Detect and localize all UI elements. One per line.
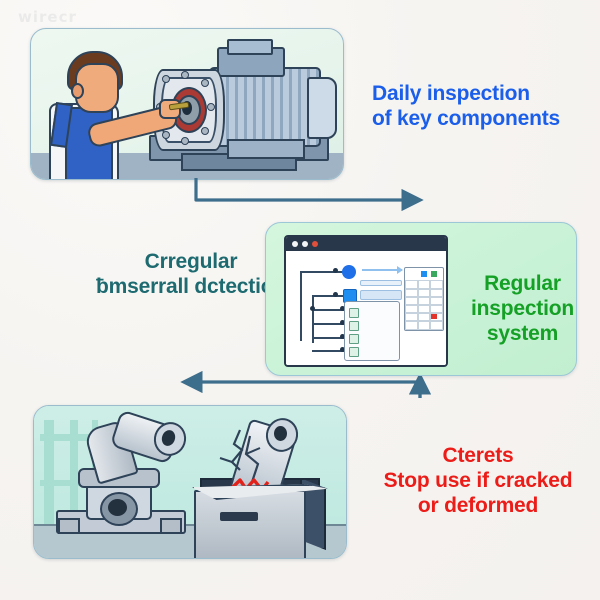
table-column-divider bbox=[417, 280, 419, 330]
window-content bbox=[286, 251, 446, 365]
base-bolt-pad bbox=[160, 518, 182, 534]
primary-node-icon bbox=[342, 265, 356, 279]
flange-bolt bbox=[181, 71, 189, 79]
window-dot-icon bbox=[292, 241, 298, 247]
status-swatch-blue bbox=[421, 271, 427, 277]
checkbox-icon bbox=[349, 321, 359, 331]
window-title-bar bbox=[286, 237, 446, 251]
motor-terminal-cap bbox=[227, 39, 273, 55]
flange-bolt bbox=[162, 75, 170, 83]
flange-bolt bbox=[181, 137, 189, 145]
flow-wire bbox=[312, 295, 344, 297]
pipe-bore bbox=[108, 499, 127, 516]
caption-regular-inspection-system: Regular inspection system bbox=[455, 272, 590, 346]
illustration-card-stop-use bbox=[33, 405, 347, 559]
checkbox-icon bbox=[349, 308, 359, 318]
flange-bolt bbox=[201, 127, 209, 135]
checklist-row bbox=[349, 308, 395, 316]
wire-junction-dot bbox=[310, 306, 315, 311]
arrow-top-to-middle bbox=[196, 178, 418, 200]
table-column-divider bbox=[429, 280, 431, 330]
electric-motor-body bbox=[209, 67, 321, 147]
checklist-row bbox=[349, 347, 395, 355]
illustration-card-daily-inspection bbox=[30, 28, 344, 180]
flow-arrow-icon bbox=[362, 269, 402, 271]
infographic-root: wirecr Daily inspection bbox=[0, 0, 600, 600]
checklist-document bbox=[344, 301, 400, 361]
arrow-middle-to-bottom bbox=[186, 382, 420, 398]
base-bolt-pad bbox=[58, 518, 80, 534]
inspection-software-window bbox=[284, 235, 448, 367]
checklist-row bbox=[349, 321, 395, 329]
motor-mounting-foot bbox=[227, 139, 305, 159]
flow-wire bbox=[300, 271, 302, 341]
window-close-dot-icon bbox=[312, 241, 318, 247]
flange-bolt bbox=[207, 103, 215, 111]
status-swatch-green bbox=[431, 271, 437, 277]
flow-wire bbox=[312, 295, 314, 343]
checkbox-icon bbox=[349, 347, 359, 357]
technician-ear bbox=[71, 83, 84, 99]
status-table bbox=[404, 267, 444, 331]
wire-junction-dot bbox=[333, 292, 338, 297]
caption-abnormal-detection: Crregular ƀmserrall dctection bbox=[96, 250, 286, 300]
checklist-row bbox=[349, 334, 395, 342]
motor-end-bell bbox=[307, 77, 337, 139]
wire-junction-dot bbox=[333, 268, 338, 273]
table-row bbox=[405, 320, 443, 330]
window-dot-icon bbox=[302, 241, 308, 247]
caption-daily-inspection: Daily inspection of key components bbox=[372, 82, 596, 132]
checkbox-icon bbox=[349, 334, 359, 344]
scrap-bin-handle bbox=[220, 512, 258, 521]
caption-stop-use: Cterets Stop use if cracked or deformed bbox=[358, 444, 598, 518]
scrap-bin-body bbox=[194, 490, 306, 559]
field-bar bbox=[360, 280, 402, 286]
field-bar bbox=[360, 290, 402, 300]
flange-bolt bbox=[162, 131, 170, 139]
flange-bolt bbox=[201, 79, 209, 87]
